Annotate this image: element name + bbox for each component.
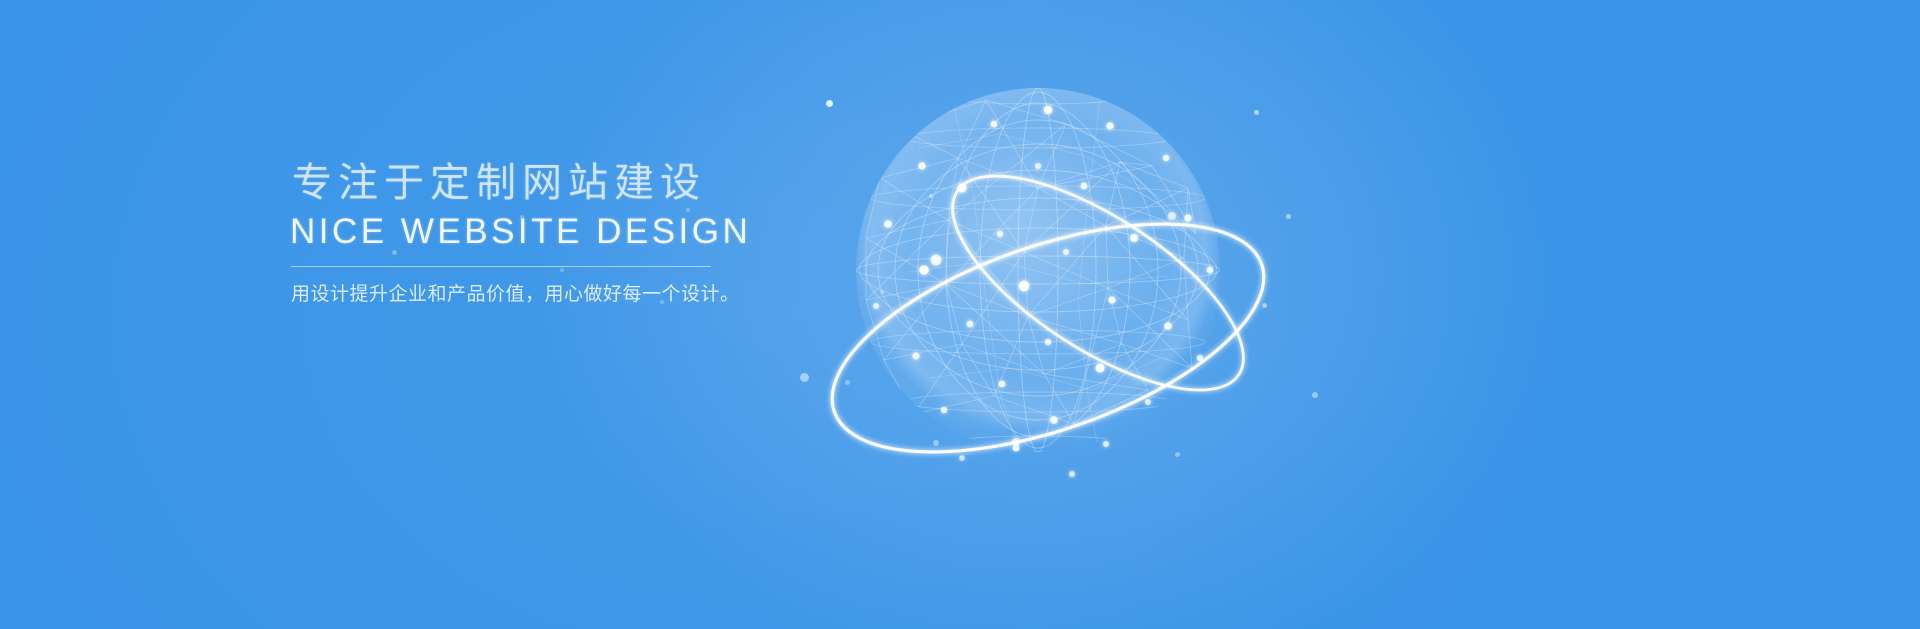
orbit-glints <box>931 212 1177 446</box>
sphere-halo <box>856 88 1220 452</box>
headline-chinese: 专注于定制网站建设 <box>292 160 888 207</box>
particle-field <box>0 0 1920 629</box>
network-nodes <box>873 106 1213 477</box>
subtitle-chinese: 用设计提升企业和产品价值，用心做好每一个设计。 <box>291 279 888 306</box>
particle <box>1312 392 1318 398</box>
particle <box>1262 303 1267 308</box>
sphere-wireframe <box>856 88 1220 458</box>
headline-english: NICE WEBSITE DESIGN <box>290 211 888 252</box>
particle <box>845 380 850 385</box>
background-glow <box>0 0 1920 629</box>
orbit-ring-small <box>921 136 1275 430</box>
particle <box>826 100 833 107</box>
hero-banner: 专注于定制网站建设 NICE WEBSITE DESIGN 用设计提升企业和产品… <box>0 0 1920 629</box>
particle <box>929 194 933 198</box>
particle <box>1175 452 1180 457</box>
particle <box>1254 110 1259 115</box>
banner-text-block: 专注于定制网站建设 NICE WEBSITE DESIGN 用设计提升企业和产品… <box>288 160 888 306</box>
particle <box>800 373 809 382</box>
particle <box>1286 214 1291 219</box>
sphere-body <box>856 88 1220 452</box>
particle <box>933 440 939 446</box>
text-divider <box>291 266 711 267</box>
